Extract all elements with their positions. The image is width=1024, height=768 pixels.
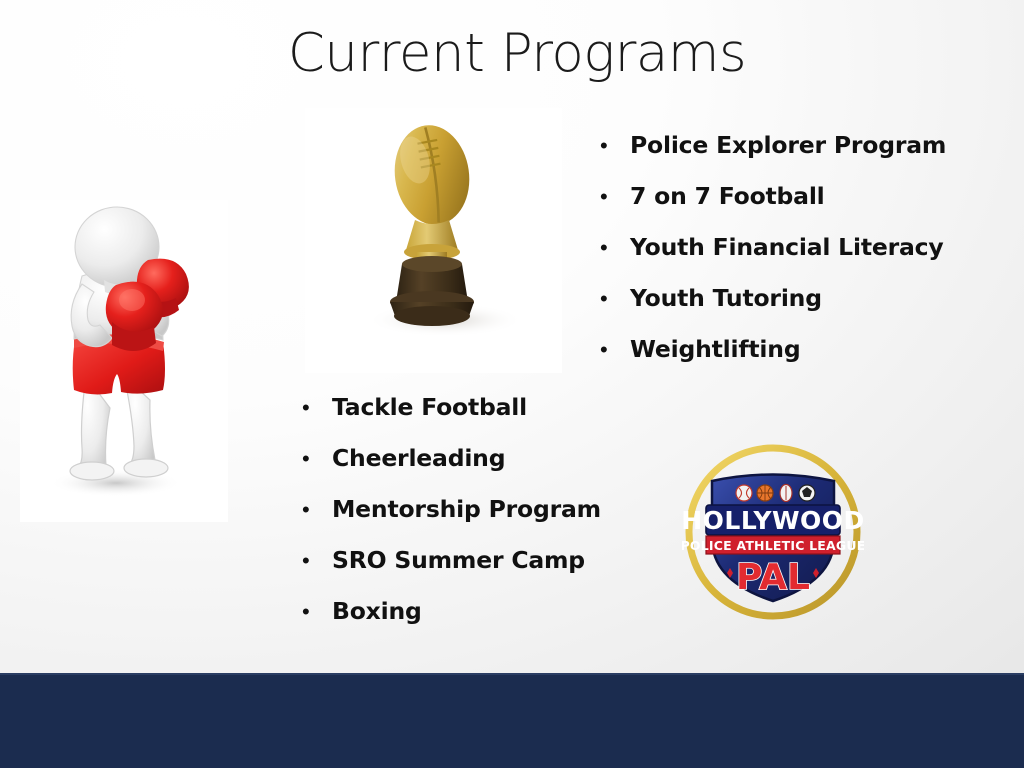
programs-list-left: • Tackle Football • Cheerleading • Mento… [302,393,601,648]
list-item: • 7 on 7 Football [600,182,946,233]
bullet-icon: • [302,601,332,623]
bullet-icon: • [302,397,332,419]
list-item: • Boxing [302,597,601,648]
list-item: • SRO Summer Camp [302,546,601,597]
bullet-icon: • [600,135,630,157]
page-title: Current Programs [0,26,1024,82]
pal-logo: HOLLYWOOD POLICE ATHLETIC LEAGUE PAL [682,441,864,623]
pal-logo-graphic: HOLLYWOOD POLICE ATHLETIC LEAGUE PAL [682,441,864,623]
bullet-icon: • [302,499,332,521]
boxing-glove-front [106,282,163,351]
list-item: • Police Explorer Program [600,131,946,182]
footer-bar: CITY OF Hollywood FLORIDA 12 Hollywood P… [0,673,1024,768]
bullet-icon: • [600,339,630,361]
programs-list-right: • Police Explorer Program • 7 on 7 Footb… [600,131,946,386]
football-trophy-image [305,108,562,373]
list-item: • Mentorship Program [302,495,601,546]
pal-subtitle: POLICE ATHLETIC LEAGUE [682,538,864,553]
bullet-icon: • [600,237,630,259]
list-item: • Weightlifting [600,335,946,386]
boxing-figure-graphic [20,200,228,522]
pal-title: HOLLYWOOD [682,506,864,535]
football-trophy-graphic [305,108,562,373]
list-item: • Youth Tutoring [600,284,946,335]
bullet-icon: • [302,448,332,470]
list-item: • Cheerleading [302,444,601,495]
bullet-icon: • [600,186,630,208]
bullet-icon: • [600,288,630,310]
list-item: • Tackle Football [302,393,601,444]
slide: Current Programs [0,0,1024,768]
list-item: • Youth Financial Literacy [600,233,946,284]
pal-acronym: PAL [736,557,810,598]
bullet-icon: • [302,550,332,572]
boxing-figure-image [20,200,228,522]
